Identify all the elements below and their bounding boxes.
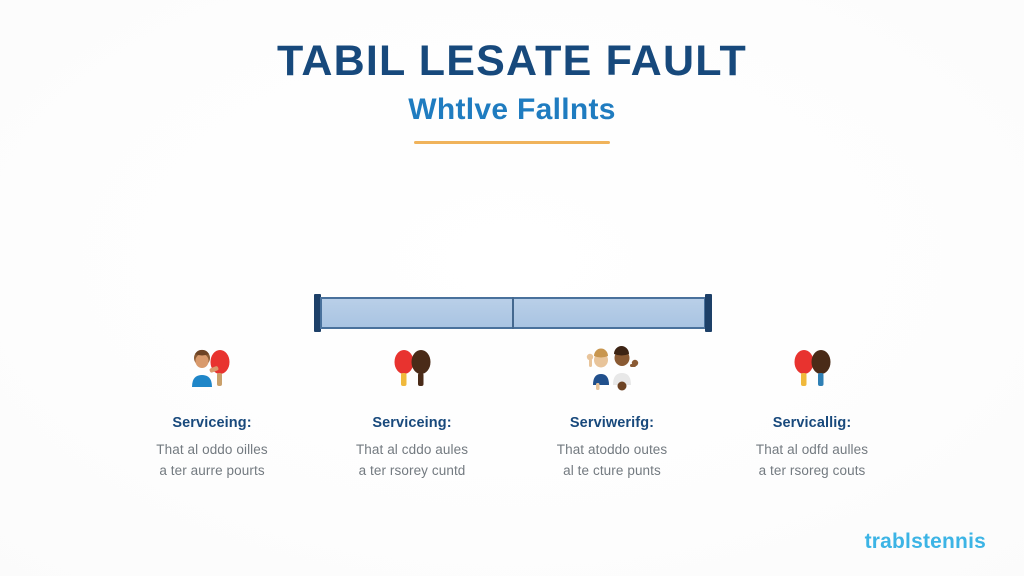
column-text-line: That al odfd aulles [718,440,906,461]
two-players-icon [518,345,706,393]
page-subtitle: Whtlve Fallnts [0,93,1024,126]
header: TABIL LESATE FAULT Whtlve Fallnts [0,38,1024,144]
content-columns: Serviceing: That al oddo oilles a ter au… [112,345,912,482]
content-column: Serviceing: That al cddo aules a ter rso… [312,345,512,482]
column-heading: Serviceing: [318,415,506,431]
slide-canvas: TABIL LESATE FAULT Whtlve Fallnts [0,0,1024,576]
column-text-line: That al oddo oilles [118,440,306,461]
column-text-line: al te cture punts [518,461,706,482]
content-column: Serviceing: That al oddo oilles a ter au… [112,345,312,482]
column-text-line: a ter aurre pourts [118,461,306,482]
column-heading: Serviceing: [118,415,306,431]
accent-divider [414,141,610,144]
content-column: Serviwerifg: That atoddo outes al te ctu… [512,345,712,482]
table-tennis-table-graphic [314,294,712,332]
brand-logo: trablstennis [865,530,986,554]
person-playing-table-tennis-icon [118,345,306,393]
page-title: TABIL LESATE FAULT [0,38,1024,84]
table-post-right [705,294,712,332]
column-text-line: That al cddo aules [318,440,506,461]
column-text-line: That atoddo outes [518,440,706,461]
column-heading: Servicallig: [718,415,906,431]
two-paddles-icon [718,345,906,393]
column-text-line: a ter rsorey cuntd [318,461,506,482]
column-heading: Serviwerifg: [518,415,706,431]
two-paddles-icon [318,345,506,393]
table-net-line [512,297,514,329]
column-text-line: a ter rsoreg couts [718,461,906,482]
content-column: Servicallig: That al odfd aulles a ter r… [712,345,912,482]
